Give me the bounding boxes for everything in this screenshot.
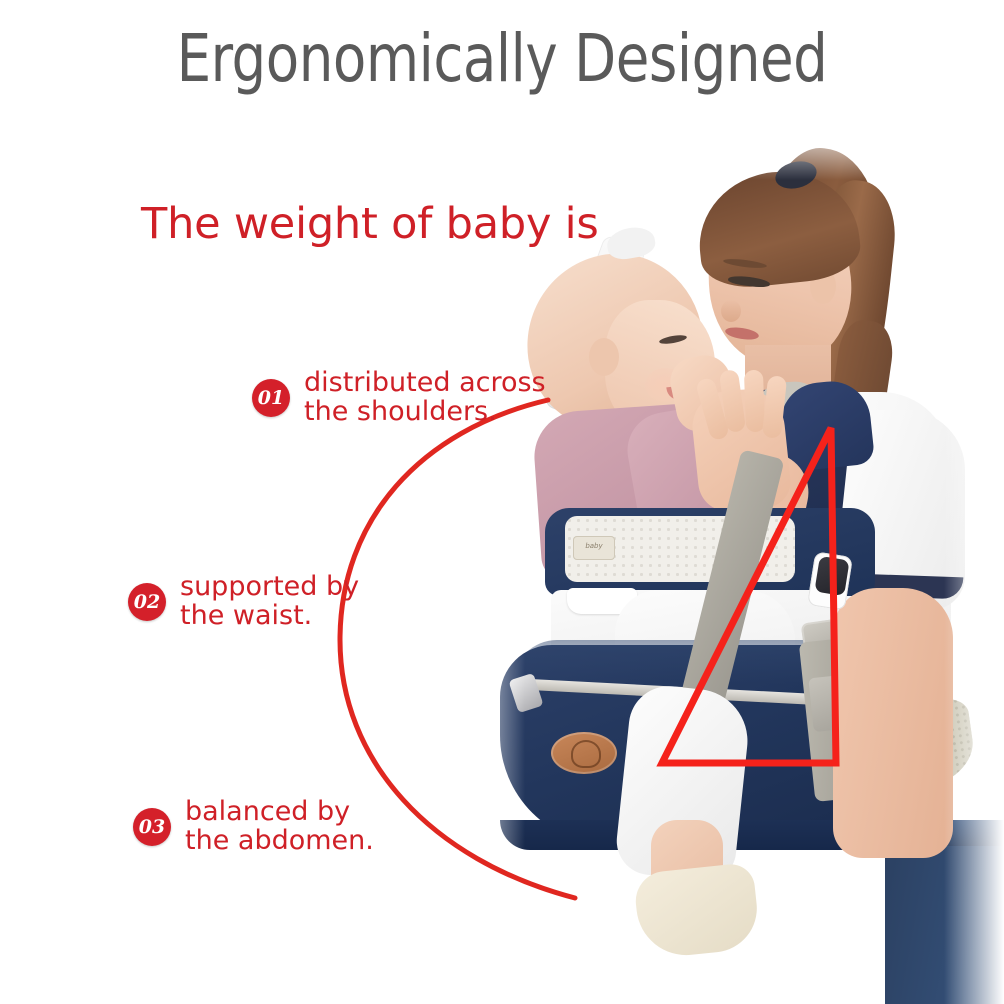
callout-03-line2: the abdomen. bbox=[185, 827, 374, 856]
photo-fade-right bbox=[944, 120, 1004, 1004]
callout-02-text: supported by the waist. bbox=[180, 573, 359, 631]
page-title: Ergonomically Designed bbox=[40, 24, 964, 93]
callout-02-line2: the waist. bbox=[180, 602, 359, 631]
carrier-brand-label-text: baby bbox=[573, 542, 615, 550]
photo-fade-top bbox=[455, 120, 1004, 180]
callout-03: 03 balanced by the abdomen. bbox=[133, 798, 374, 856]
callout-03-text: balanced by the abdomen. bbox=[185, 798, 374, 856]
callout-01: 01 distributed across the shoulders. bbox=[252, 369, 546, 427]
callout-03-badge: 03 bbox=[133, 808, 171, 846]
woman-nose bbox=[721, 300, 741, 322]
baby-ear bbox=[589, 338, 619, 376]
baby-sock bbox=[633, 862, 761, 960]
callout-02-badge: 02 bbox=[128, 583, 166, 621]
photo-fade-left bbox=[455, 120, 525, 1004]
product-photo: baby bbox=[455, 120, 1004, 1004]
callout-03-line1: balanced by bbox=[185, 798, 374, 827]
callout-01-line1: distributed across bbox=[304, 369, 546, 398]
carrier-logo-mark bbox=[571, 740, 601, 768]
callout-02-line1: supported by bbox=[180, 573, 359, 602]
callout-02: 02 supported by the waist. bbox=[128, 573, 359, 631]
callout-01-text: distributed across the shoulders. bbox=[304, 369, 546, 427]
woman-smartwatch-face bbox=[814, 556, 849, 596]
baby-headband-bow bbox=[605, 224, 657, 262]
woman-finger bbox=[744, 370, 765, 433]
callout-01-badge: 01 bbox=[252, 379, 290, 417]
subtitle: The weight of baby is bbox=[141, 203, 599, 246]
infographic-canvas: Ergonomically Designed bbox=[0, 0, 1004, 1004]
callout-01-line2: the shoulders. bbox=[304, 398, 546, 427]
woman-arm bbox=[833, 588, 953, 858]
